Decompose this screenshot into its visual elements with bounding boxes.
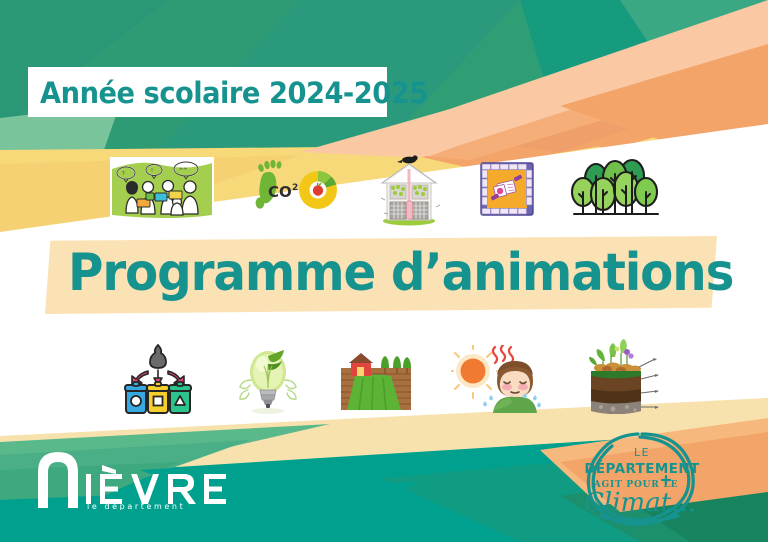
board-game-icon <box>478 150 536 228</box>
forest-trees-icon <box>570 150 662 228</box>
nievre-logo-tagline: le département <box>87 501 185 510</box>
svg-text:2: 2 <box>292 183 298 193</box>
discussion-workshop-icon: ?!≈≈ <box>110 150 214 228</box>
svg-text:!: ! <box>151 168 153 174</box>
svg-text:CO: CO <box>268 183 292 201</box>
climat-badge-logo: LE DÉPARTEMENT AGIT POUR LE Climat... <box>578 424 706 536</box>
insect-hotel-icon <box>374 150 444 228</box>
eco-lightbulb-icon <box>236 336 300 422</box>
carbon-footprint-food-icon: CO 2 <box>248 150 340 228</box>
svg-text:?: ? <box>122 171 125 177</box>
climat-badge-line4: Climat... <box>584 488 696 518</box>
icon-row-top: ?!≈≈ <box>110 150 662 228</box>
climat-badge-line2: DÉPARTEMENT <box>584 460 700 477</box>
heatwave-child-icon <box>451 336 543 422</box>
climat-badge-line1: LE <box>634 446 650 459</box>
soil-profile-icon <box>581 336 663 422</box>
svg-text:≈≈: ≈≈ <box>179 166 187 172</box>
icon-row-bottom <box>118 336 663 422</box>
nievre-department-logo: le département <box>34 448 244 510</box>
farm-fields-icon <box>339 336 413 422</box>
poster-canvas: Année scolaire 2024-2025 ?!≈≈ <box>0 0 768 542</box>
recycling-bins-icon <box>118 336 198 422</box>
poster-title: Programme d’animations <box>68 240 663 306</box>
year-banner-text: Année scolaire 2024-2025 <box>40 72 360 114</box>
